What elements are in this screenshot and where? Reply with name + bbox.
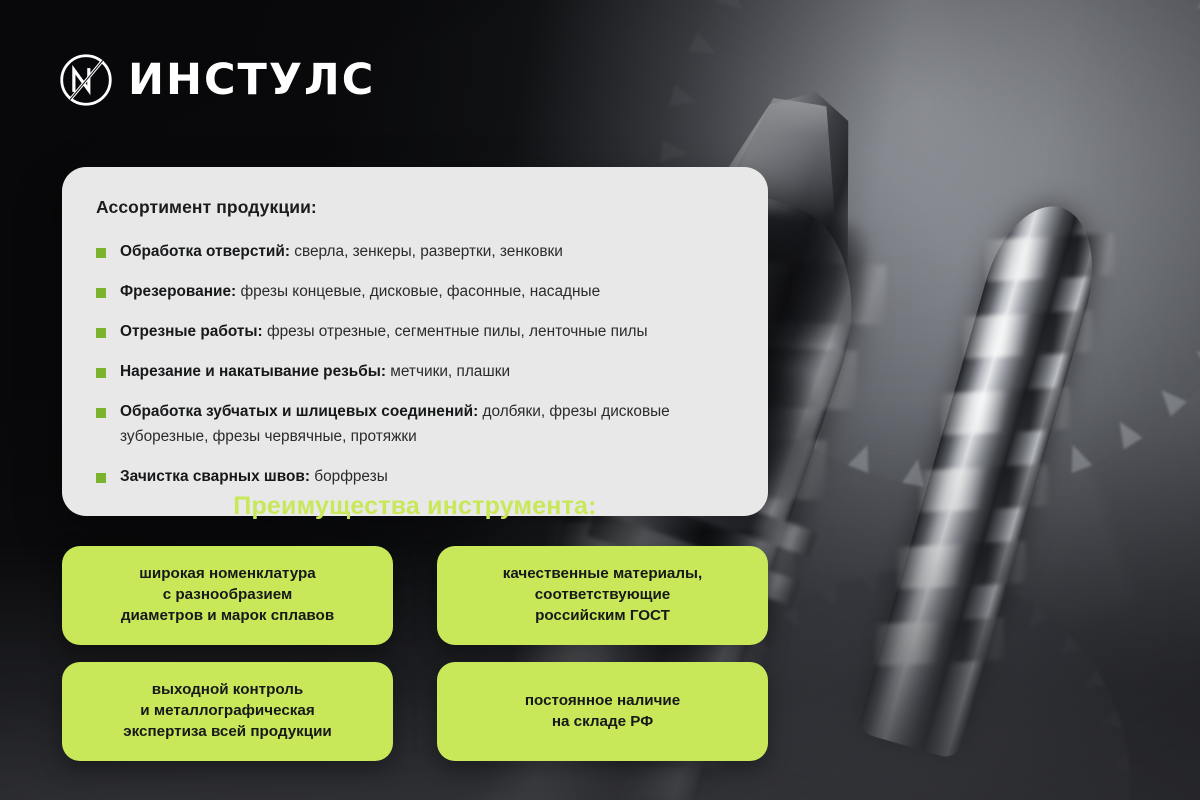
advantages-grid: широкая номенклатура с разнообразием диа… [62, 546, 768, 761]
bullet-square-icon [96, 408, 106, 418]
assortment-item-detail: фрезы концевые, дисковые, фасонные, наса… [236, 283, 600, 300]
poster-content: ИНСТУЛС Ассортимент продукции: Обработка… [0, 0, 1200, 800]
assortment-item-detail: метчики, плашки [386, 363, 510, 380]
assortment-item: Фрезерование: фрезы концевые, дисковые, … [96, 280, 734, 305]
assortment-item-label: Отрезные работы: [120, 323, 263, 340]
promo-poster: ИНСТУЛС Ассортимент продукции: Обработка… [0, 0, 1200, 800]
assortment-item-label: Зачистка сварных швов: [120, 468, 310, 485]
advantage-card[interactable]: выходной контроль и металлографическая э… [62, 662, 393, 761]
circle-slash-monogram-icon [58, 52, 114, 108]
assortment-item-detail: сверла, зенкеры, развертки, зенковки [290, 243, 563, 260]
bullet-square-icon [96, 248, 106, 258]
bullet-square-icon [96, 473, 106, 483]
brand-name: ИНСТУЛС [128, 59, 375, 102]
bullet-square-icon [96, 368, 106, 378]
assortment-item: Нарезание и накатывание резьбы: метчики,… [96, 360, 734, 385]
bullet-square-icon [96, 328, 106, 338]
assortment-item-label: Нарезание и накатывание резьбы: [120, 363, 386, 380]
assortment-title: Ассортимент продукции: [96, 197, 734, 218]
assortment-item-label: Обработка отверстий: [120, 243, 290, 260]
assortment-item-detail: фрезы отрезные, сегментные пилы, ленточн… [263, 323, 648, 340]
advantage-card[interactable]: постоянное наличие на складе РФ [437, 662, 768, 761]
assortment-item: Зачистка сварных швов: борфрезы [96, 465, 734, 490]
bullet-square-icon [96, 288, 106, 298]
advantage-card[interactable]: широкая номенклатура с разнообразием диа… [62, 546, 393, 645]
assortment-item: Обработка зубчатых и шлицевых соединений… [96, 400, 734, 450]
assortment-item-label: Обработка зубчатых и шлицевых соединений… [120, 403, 478, 420]
assortment-list: Обработка отверстий: сверла, зенкеры, ра… [96, 240, 734, 490]
assortment-item-detail: борфрезы [310, 468, 388, 485]
advantage-card[interactable]: качественные материалы, соответствующие … [437, 546, 768, 645]
advantages-heading: Преимущества инструмента: [62, 492, 768, 521]
assortment-item: Обработка отверстий: сверла, зенкеры, ра… [96, 240, 734, 265]
assortment-item: Отрезные работы: фрезы отрезные, сегмент… [96, 320, 734, 345]
brand-logo[interactable]: ИНСТУЛС [58, 52, 375, 108]
assortment-item-label: Фрезерование: [120, 283, 236, 300]
assortment-card: Ассортимент продукции: Обработка отверст… [62, 167, 768, 516]
